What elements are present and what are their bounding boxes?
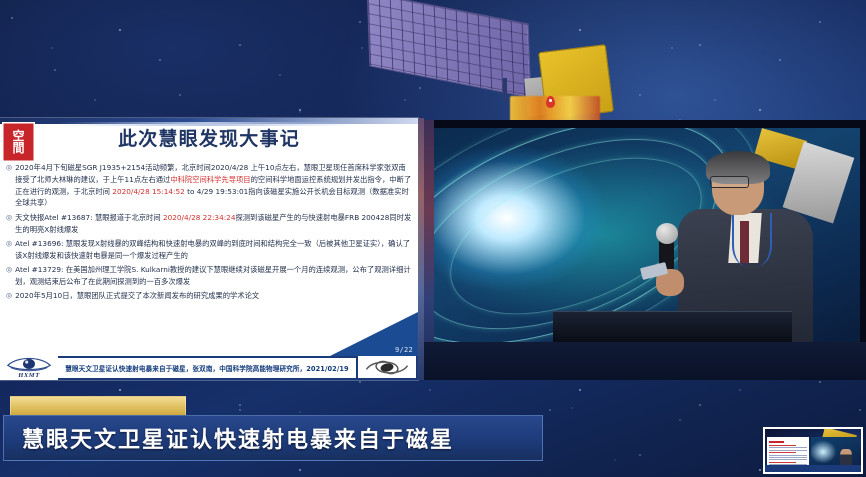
bullet-marker-icon: ◎ [6, 163, 12, 210]
video-left-edge [424, 120, 434, 380]
satellite-thermal-foil [510, 96, 600, 122]
hxmt-eye-logo: HXMT [0, 344, 58, 380]
slide-bullet-item: ◎天文快报Atel #13687: 慧眼报道于北京时间 2020/4/28 22… [6, 212, 412, 236]
screenshot-stage: 空 間 此次慧眼发现大事记 ◎2020年4月下旬磁星SGR J1935+2154… [0, 0, 866, 477]
galaxy-logo [358, 356, 416, 378]
pip-content [765, 429, 861, 472]
satellite-mast [503, 78, 507, 102]
slide-bullet-text: 2020年5月10日，慧眼团队正式提交了本次新闻发布的研究成果的学术论文 [15, 290, 412, 302]
slide-bullet-list: ◎2020年4月下旬磁星SGR J1935+2154活动频繁，北京时间2020/… [6, 162, 412, 304]
slide-credit-strip: 慧眼天文卫星证认快速射电暴来自于磁星，张双南，中国科学院高能物理研究所，2021… [58, 358, 356, 378]
hxmt-wordmark: HXMT [18, 372, 40, 379]
video-bottom-edge [424, 342, 866, 380]
map-pin-icon [546, 96, 555, 108]
slide-title: 此次慧眼发现大事记 [0, 124, 418, 151]
spiral-galaxy-icon [359, 357, 415, 378]
lower-third-headline: 慧眼天文卫星证认快速射电暴来自于磁星 [4, 422, 454, 454]
slide-bullet-item: ◎2020年4月下旬磁星SGR J1935+2154活动频繁，北京时间2020/… [6, 162, 412, 209]
presentation-slide: 空 間 此次慧眼发现大事记 ◎2020年4月下旬磁星SGR J1935+2154… [0, 118, 418, 380]
slide-bullet-item: ◎2020年5月10日，慧眼团队正式提交了本次新闻发布的研究成果的学术论文 [6, 290, 412, 302]
slide-bullet-item: ◎Atel #13696: 慧眼发现X射线暴的双峰结构和快速射电暴的双峰的到底时… [6, 238, 412, 262]
live-video-panel[interactable] [424, 120, 866, 380]
slide-bullet-text: Atel #13729: 在美国加州理工学院S. Kulkarni教授的建议下慧… [15, 264, 412, 288]
bullet-marker-icon: ◎ [6, 212, 12, 236]
pip-slide-lines [769, 440, 807, 467]
bullet-marker-icon: ◎ [6, 291, 12, 303]
satellite-illustration [350, 0, 750, 122]
slide-bullet-text: Atel #13696: 慧眼发现X射线暴的双峰结构和快速射电暴的双峰的到底时间… [15, 238, 412, 262]
picture-in-picture-preview[interactable] [763, 427, 863, 474]
speaker-glasses [710, 176, 749, 188]
lower-third-banner: 慧眼天文卫星证认快速射电暴来自于磁星 [3, 415, 543, 461]
slide-bullet-text: 2020年4月下旬磁星SGR J1935+2154活动频繁，北京时间2020/4… [15, 162, 412, 209]
slide-bullet-text: 天文快报Atel #13687: 慧眼报道于北京时间 2020/4/28 22:… [15, 212, 412, 236]
slide-page-number: 9/22 [395, 346, 413, 354]
bullet-marker-icon: ◎ [6, 265, 12, 289]
speaker-lanyard [732, 213, 772, 267]
slide-credit-text: 慧眼天文卫星证认快速射电暴来自于磁星，张双南，中国科学院高能物理研究所，2021… [65, 363, 349, 373]
microphone-head [656, 223, 678, 244]
pip-lower-band [765, 465, 861, 472]
lower-third-gold-tab [10, 396, 186, 416]
stage-led-screen [434, 128, 860, 342]
eye-icon [6, 355, 52, 372]
slide-bullet-item: ◎Atel #13729: 在美国加州理工学院S. Kulkarni教授的建议下… [6, 264, 412, 288]
bullet-marker-icon: ◎ [6, 238, 12, 262]
podium [553, 311, 792, 342]
